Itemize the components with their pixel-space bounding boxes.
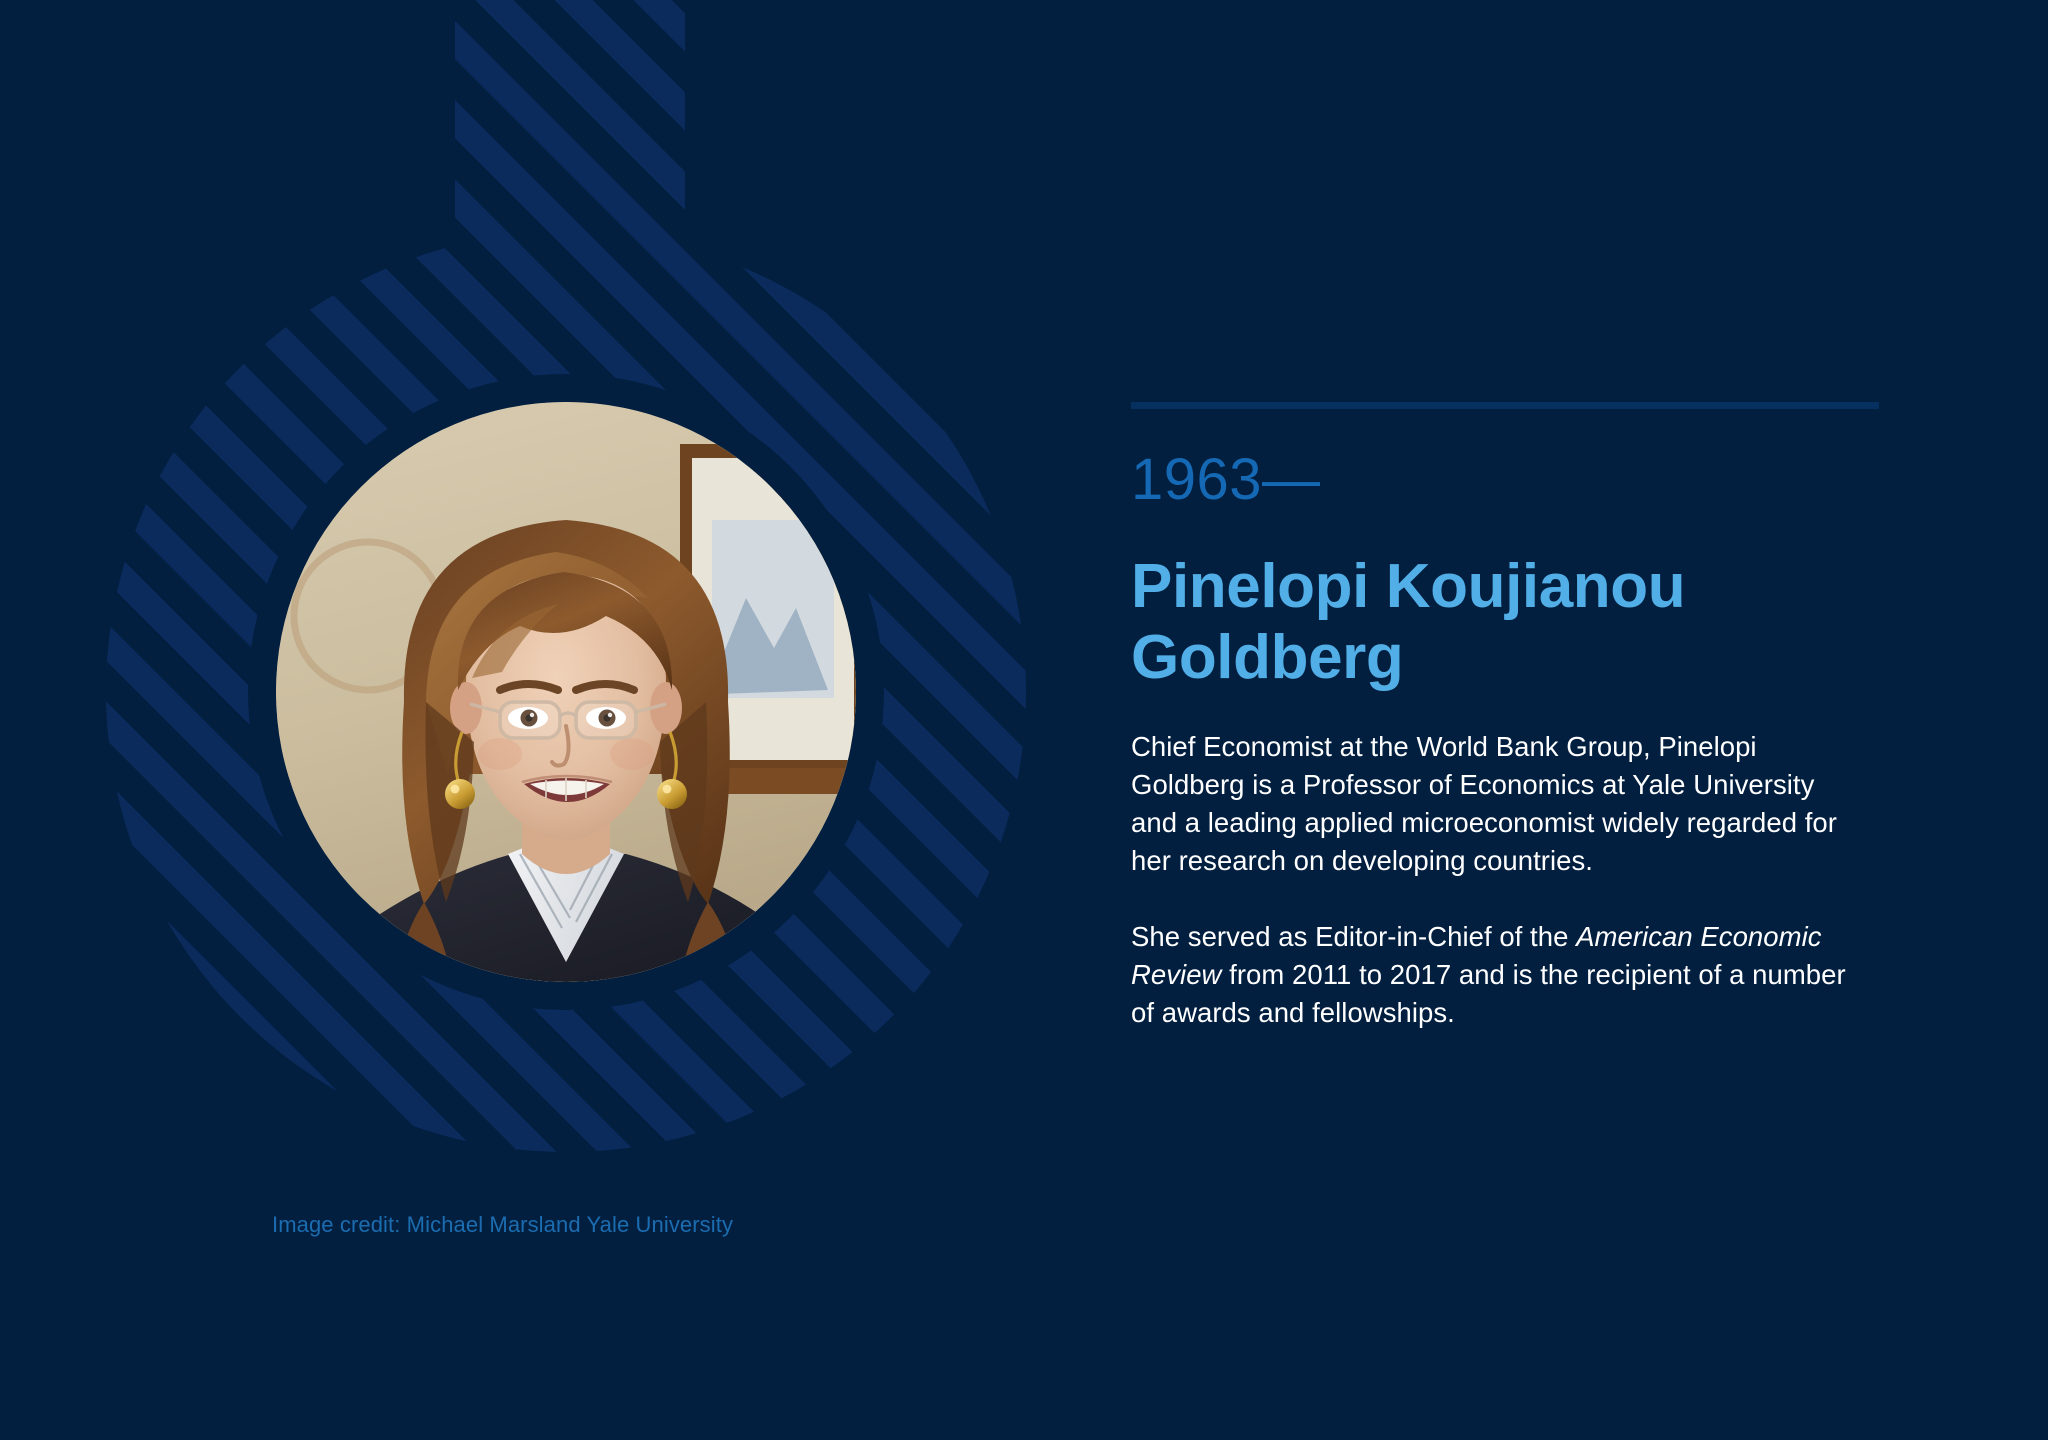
bio-paragraph-2: She served as Editor-in-Chief of the Ame… — [1131, 918, 1861, 1032]
profile-card: Image credit: Michael Marsland Yale Univ… — [0, 0, 2048, 1440]
page-title: Pinelopi Koujianou Goldberg — [1131, 551, 1831, 695]
heading-divider — [1131, 402, 1879, 409]
birth-year: 1963— — [1131, 451, 1881, 509]
portrait-photo — [276, 402, 856, 982]
bio-paragraph-1: Chief Economist at the World Bank Group,… — [1131, 728, 1861, 880]
image-credit: Image credit: Michael Marsland Yale Univ… — [272, 1212, 733, 1238]
profile-text-column: 1963— Pinelopi Koujianou Goldberg Chief … — [1131, 402, 1881, 1032]
